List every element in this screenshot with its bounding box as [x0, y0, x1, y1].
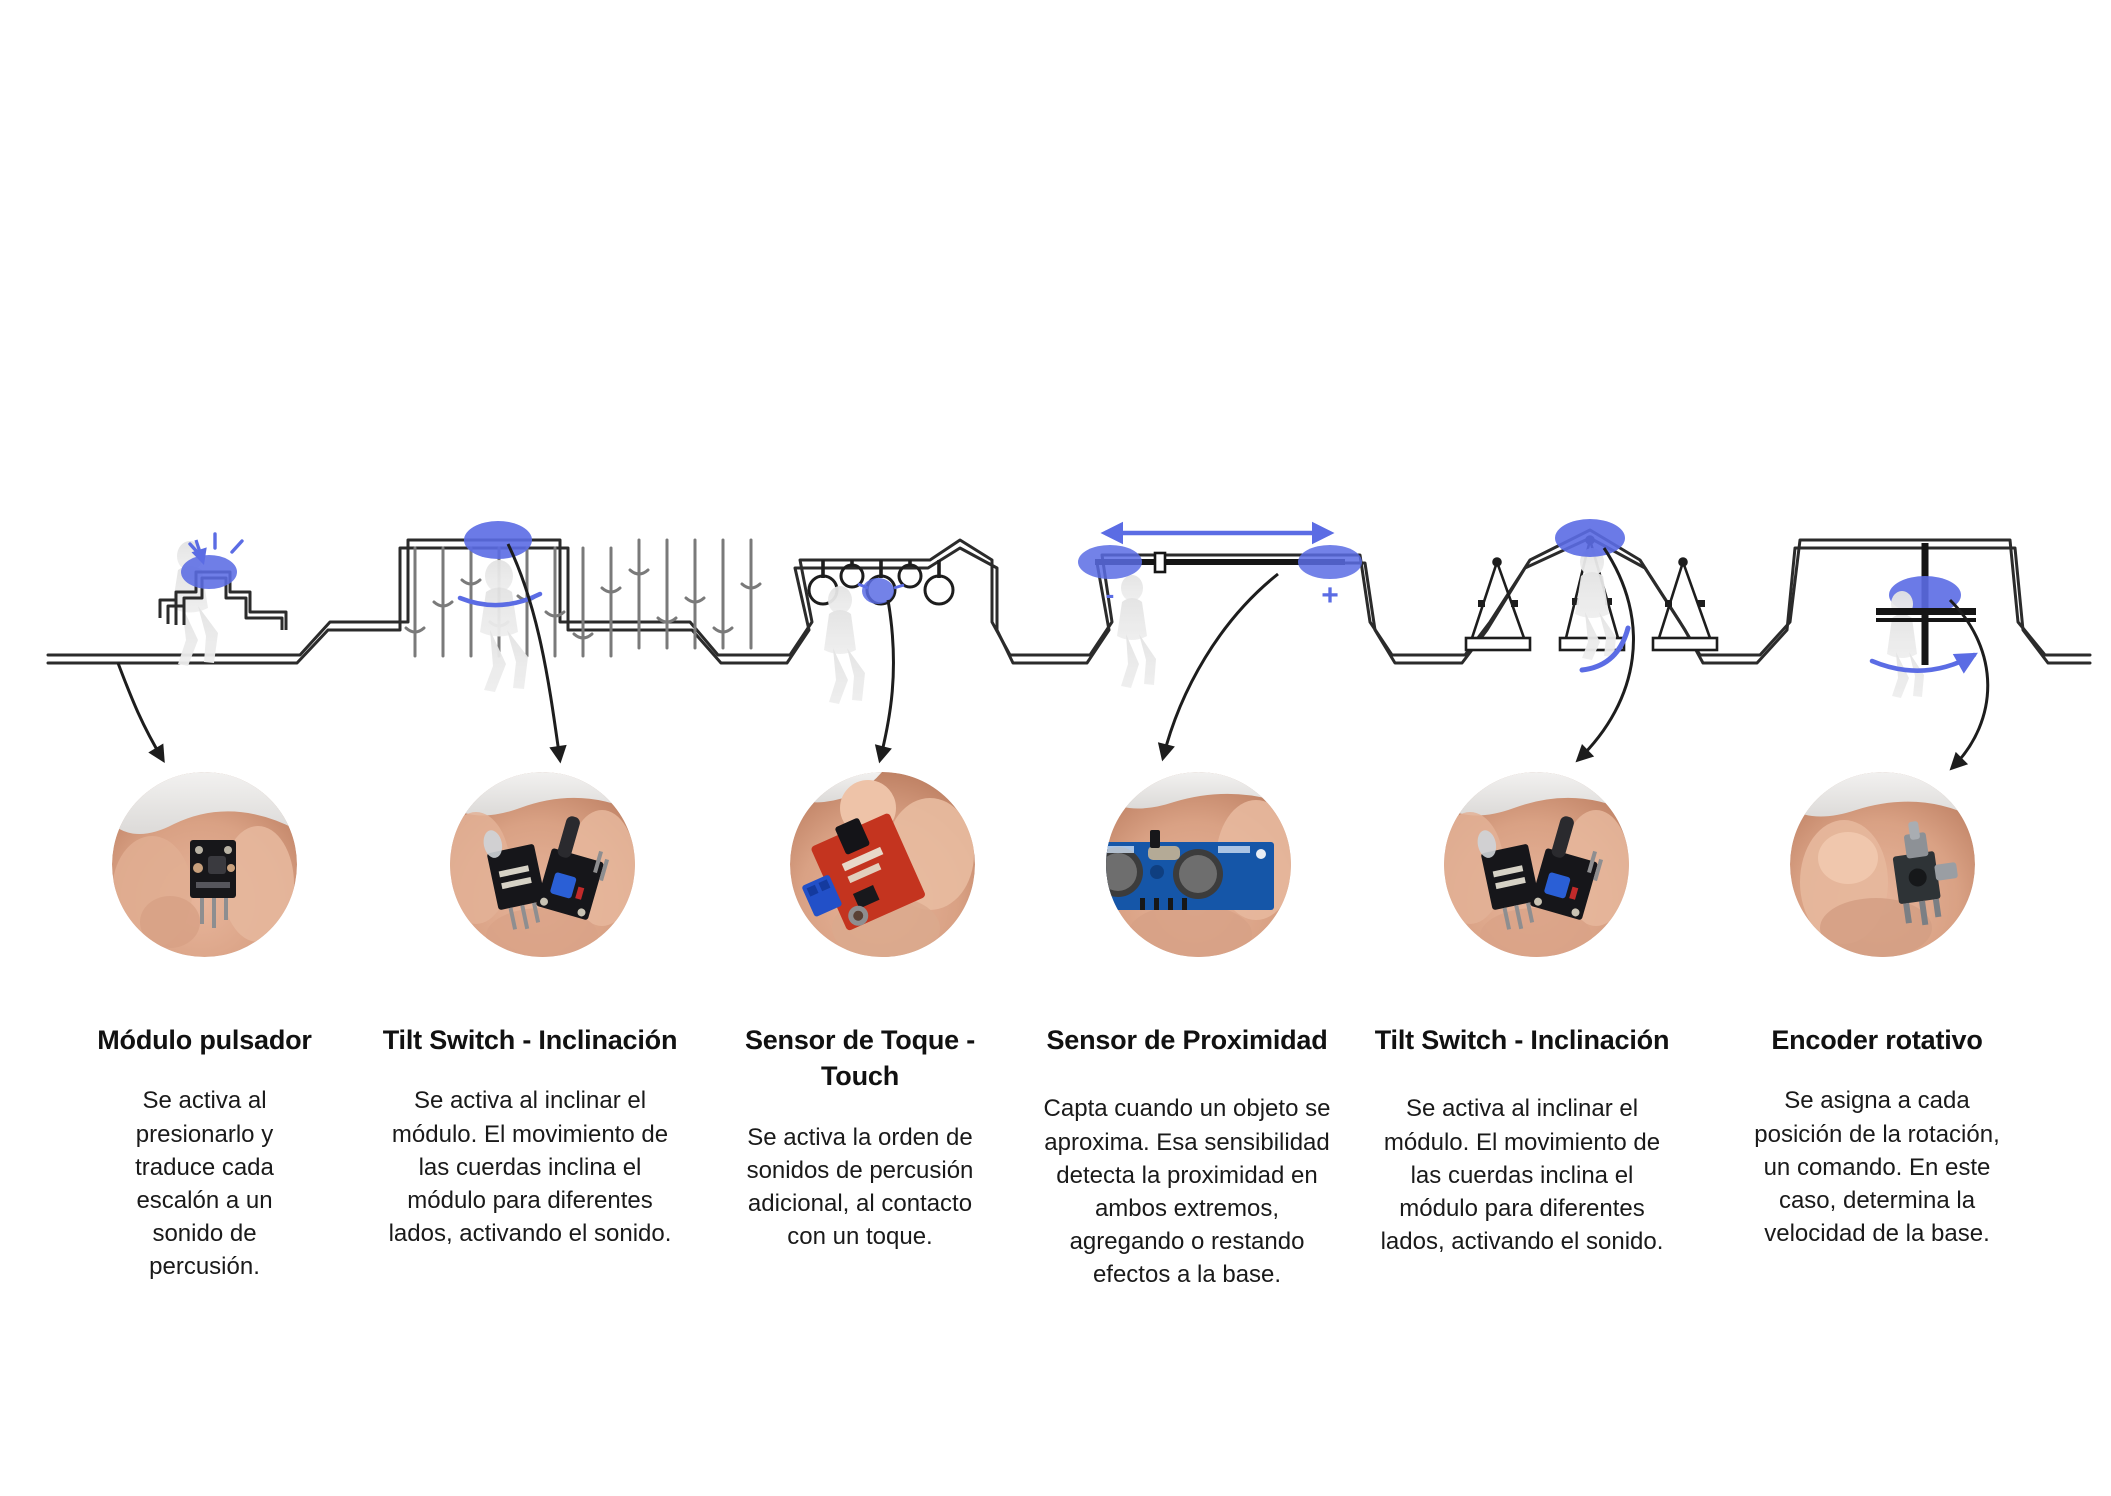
caption-column-tilt-switch-1: Tilt Switch - Inclinación Se activa al i…	[380, 1022, 680, 1250]
tilt-ellipse-icon	[464, 521, 532, 559]
column-title: Tilt Switch - Inclinación	[380, 1022, 680, 1058]
photo-ultrasonic-sensor	[1106, 772, 1291, 957]
column-body: Se activa al inclinar el módulo. El movi…	[1372, 1092, 1672, 1258]
column-body: Se asigna a cada posición de la rotación…	[1712, 1084, 2042, 1250]
photo-thumb-sensor-de-toque	[790, 772, 975, 957]
column-body: Se activa al inclinar el módulo. El movi…	[380, 1084, 680, 1250]
proximity-plus-label: +	[1321, 579, 1339, 612]
caption-column-tilt-switch-2: Tilt Switch - Inclinación Se activa al i…	[1372, 1022, 1672, 1258]
ghost-figure	[480, 560, 528, 692]
ghost-figure	[824, 586, 865, 704]
press-button-icon	[181, 555, 237, 589]
module-carousel	[1872, 543, 1988, 768]
slider-knob	[1155, 553, 1165, 572]
photo-pushbutton-module	[112, 772, 297, 957]
photo-tilt-switch-modules	[1444, 772, 1629, 957]
column-title: Módulo pulsador	[62, 1022, 347, 1058]
photo-thumb-tilt-switch-1	[450, 772, 635, 957]
swing-right	[1653, 559, 1717, 651]
pointer-arrow-1	[118, 663, 163, 760]
photo-thumb-modulo-pulsador	[112, 772, 297, 957]
module-swings	[1466, 519, 1717, 760]
column-body: Se activa la orden de sonidos de percusi…	[710, 1121, 1010, 1253]
touch-dot-icon	[858, 578, 904, 604]
caption-column-encoder-rotativo: Encoder rotativo Se asigna a cada posici…	[1712, 1022, 2042, 1250]
column-body: Capta cuando un objeto se aproxima. Esa …	[1032, 1092, 1342, 1291]
proximity-sensor-left-icon	[1078, 545, 1142, 579]
pointer-arrow-6	[1950, 600, 1988, 768]
proximity-minus-label: -	[1106, 579, 1115, 609]
tilt-ellipse-icon	[1555, 519, 1625, 557]
pointer-arrow-4	[1163, 574, 1278, 758]
column-body: Se activa al presionarlo y traduce cada …	[62, 1084, 347, 1283]
photo-touch-sensor	[790, 772, 975, 957]
photo-thumb-sensor-de-proximidad	[1106, 772, 1291, 957]
column-title: Sensor de Proximidad	[1032, 1022, 1342, 1058]
proximity-sensor-right-icon	[1298, 545, 1362, 579]
column-title: Encoder rotativo	[1712, 1022, 2042, 1058]
module-slider-bar: - +	[1078, 533, 1362, 758]
column-title: Sensor de Toque - Touch	[710, 1022, 1010, 1095]
column-title: Tilt Switch - Inclinación	[1372, 1022, 1672, 1058]
ghost-figure	[1117, 575, 1156, 688]
photo-tilt-switch-modules	[450, 772, 635, 957]
pointer-arrow-3	[880, 600, 893, 760]
terrain-outline	[48, 530, 2090, 663]
module-pendulums	[809, 560, 953, 760]
infographic-canvas: - +	[0, 0, 2111, 1496]
module-stairs-button	[118, 534, 286, 760]
photo-thumb-tilt-switch-2	[1444, 772, 1629, 957]
caption-column-modulo-pulsador: Módulo pulsador Se activa al presionarlo…	[62, 1022, 347, 1283]
photo-rotary-encoder	[1790, 772, 1975, 957]
photo-thumb-encoder-rotativo	[1790, 772, 1975, 957]
caption-column-sensor-de-proximidad: Sensor de Proximidad Capta cuando un obj…	[1032, 1022, 1342, 1291]
caption-column-sensor-de-toque: Sensor de Toque - Touch Se activa la ord…	[710, 1022, 1010, 1253]
